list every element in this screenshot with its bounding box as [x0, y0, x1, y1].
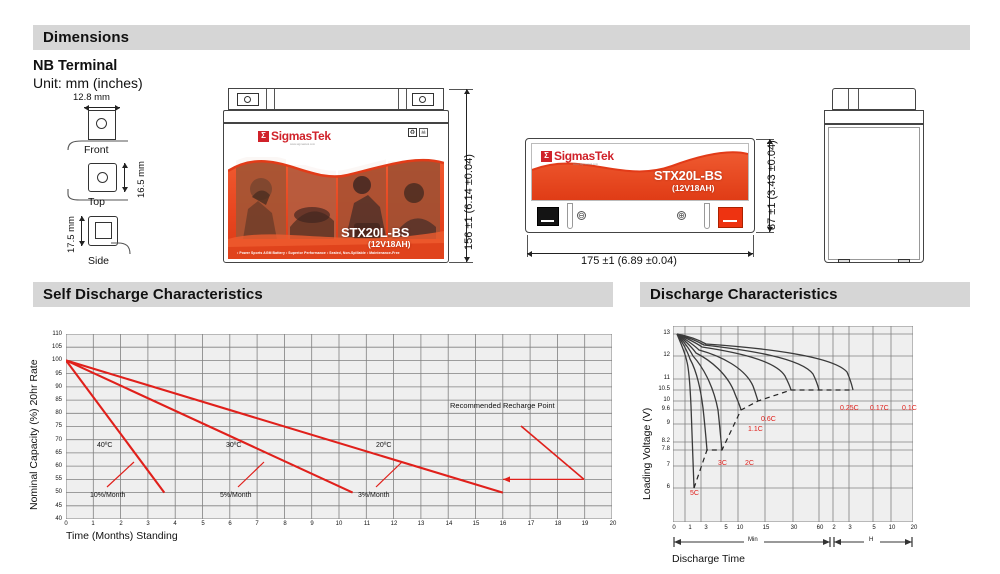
discharge-scale-brackets — [670, 535, 920, 551]
self-discharge-plot — [66, 334, 612, 519]
dc-xtick-5: 5 — [721, 525, 731, 531]
dc-ytick-7-8: 7.8 — [648, 446, 670, 452]
sd-ytick-95: 95 — [44, 371, 62, 377]
battery-front-website: www.sigmastek.com — [290, 143, 315, 146]
annotation-recommended-recharge-point: Recommended Recharge Point — [450, 401, 555, 410]
sd-xtick-10: 10 — [331, 521, 347, 527]
dc-ytick-13-0: 13 — [648, 330, 670, 336]
annotation-10pct-month: 10%/Month — [90, 492, 125, 499]
discharge-x-axis-title: Discharge Time — [672, 553, 745, 565]
unit-note: Unit: mm (inches) — [33, 75, 143, 91]
section-title-self-discharge: Self Discharge Characteristics — [33, 286, 263, 303]
dc-ytick-8-2: 8.2 — [648, 438, 670, 444]
annotation-20c: 20ºC — [376, 442, 391, 449]
battery-length-label: 175 ±1 (6.89 ±0.04) — [581, 255, 677, 267]
battery-front-vent-divider-1 — [266, 89, 267, 109]
battery-front-rating: (12V18AH) — [368, 239, 411, 249]
battery-top-rating: (12V18AH) — [672, 183, 715, 193]
dc-ytick-6-0: 6 — [648, 484, 670, 490]
dc-xtick-3h: 3 — [845, 525, 855, 531]
dc-xtick-0: 0 — [669, 525, 679, 531]
polarity-positive-symbol: ⊕ — [677, 211, 686, 220]
sd-xtick-13: 13 — [413, 521, 429, 527]
annotation-40c: 40ºC — [97, 442, 112, 449]
dc-xtick-60: 60 — [814, 525, 826, 531]
battery-side-top-cap — [832, 88, 916, 110]
sd-xtick-16: 16 — [495, 521, 511, 527]
dc-ytick-9-0: 9 — [648, 420, 670, 426]
battery-front-vent-divider-4 — [406, 89, 407, 109]
self-discharge-svg — [66, 334, 612, 519]
dc-ytick-10-5: 10.5 — [648, 386, 670, 392]
sd-xtick-6: 6 — [222, 521, 238, 527]
battery-front-terminal-left-hole — [244, 96, 251, 103]
dc-xtick-1: 1 — [685, 525, 695, 531]
polarity-negative-symbol: ⊖ — [577, 211, 586, 220]
terminal-depth-label: 16.5 mm — [136, 161, 147, 198]
discharge-label-5c: 5C — [690, 490, 699, 497]
dc-ytick-9-6: 9.6 — [648, 406, 670, 412]
discharge-scale-min-label: Min — [748, 537, 758, 543]
sd-ytick-90: 90 — [44, 384, 62, 390]
sd-xtick-15: 15 — [468, 521, 484, 527]
dc-ytick-12-0: 12 — [648, 352, 670, 358]
dc-ytick-10-0: 10 — [648, 397, 670, 403]
sigmastek-mark-top: Σ — [541, 151, 552, 162]
dc-xtick-3: 3 — [701, 525, 711, 531]
sd-xtick-17: 17 — [523, 521, 539, 527]
battery-vent-slot-right — [704, 203, 710, 229]
battery-height-ext-bottom — [449, 262, 473, 263]
discharge-plot — [673, 326, 913, 522]
battery-front-model: STX20L-BS — [341, 225, 409, 240]
sd-xtick-5: 5 — [195, 521, 211, 527]
discharge-label-1-1c: 1.1C — [748, 426, 763, 433]
section-header-dimensions: Dimensions — [33, 25, 970, 50]
terminal-height-arrow — [81, 216, 82, 246]
battery-negative-terminal-mark — [541, 220, 554, 222]
battery-depth-label: 87 ±1 (3.43 ±0.04) — [766, 140, 778, 230]
sd-xtick-3: 3 — [140, 521, 156, 527]
battery-front-label — [228, 127, 444, 259]
terminal-height-label: 17.5 mm — [66, 216, 77, 253]
sigmastek-wordmark: SigmasTek — [271, 130, 331, 142]
datasheet-page: Dimensions NB Terminal Unit: mm (inches)… — [0, 0, 1000, 574]
section-title-discharge: Discharge Characteristics — [640, 286, 838, 303]
sd-xtick-7: 7 — [249, 521, 265, 527]
battery-front-lid — [223, 110, 449, 123]
nb-terminal-heading: NB Terminal — [33, 58, 117, 74]
discharge-scale-hour-label: H — [869, 537, 873, 543]
discharge-label-0-25c: 0.25C — [840, 405, 859, 412]
battery-length-ext-right — [753, 235, 754, 257]
terminal-side-square — [95, 222, 112, 239]
view-label-top: Top — [88, 196, 105, 208]
battery-front-terminal-right-hole — [419, 96, 426, 103]
recycle-icon: ♻ — [408, 128, 417, 137]
sd-xtick-2: 2 — [113, 521, 129, 527]
sd-xtick-20: 20 — [605, 521, 621, 527]
sd-ytick-60: 60 — [44, 463, 62, 469]
battery-vent-slot-left — [567, 203, 573, 229]
dc-xtick-15: 15 — [760, 525, 772, 531]
battery-front-eco-icons: ♻ ☠ — [408, 128, 428, 137]
battery-height-label: 156 ±1 (6.14 ±0.04) — [463, 154, 475, 250]
battery-depth-ext-bottom — [756, 232, 774, 233]
dc-xtick-10: 10 — [734, 525, 746, 531]
sd-ytick-80: 80 — [44, 410, 62, 416]
sd-ytick-65: 65 — [44, 450, 62, 456]
sd-xtick-8: 8 — [277, 521, 293, 527]
section-header-self-discharge: Self Discharge Characteristics — [33, 282, 613, 307]
terminal-front-hole — [96, 118, 107, 129]
terminal-width-arrow — [84, 107, 120, 108]
discharge-label-0-17c: 0.17C — [870, 405, 889, 412]
battery-positive-terminal-mark — [723, 220, 737, 222]
sd-ytick-105: 105 — [44, 344, 62, 350]
battery-front-vent-divider-2 — [274, 89, 275, 109]
sd-xtick-14: 14 — [441, 521, 457, 527]
battery-side-inner — [828, 127, 920, 260]
battery-front-vent-divider-3 — [398, 89, 399, 109]
annotation-3pct-month: 3%/Month — [358, 492, 390, 499]
terminal-side-base — [110, 240, 136, 256]
sd-ytick-50: 50 — [44, 489, 62, 495]
sd-ytick-75: 75 — [44, 423, 62, 429]
sd-xtick-19: 19 — [577, 521, 593, 527]
sd-xtick-1: 1 — [85, 521, 101, 527]
sd-ytick-100: 100 — [44, 357, 62, 363]
sigmastek-mark: Σ — [258, 131, 269, 142]
sd-xtick-12: 12 — [386, 521, 402, 527]
sd-xtick-4: 4 — [167, 521, 183, 527]
battery-negative-terminal — [537, 207, 559, 226]
terminal-width-label: 12.8 mm — [73, 92, 110, 103]
weee-icon: ☠ — [419, 128, 428, 137]
sd-ytick-110: 110 — [44, 331, 62, 337]
sd-xtick-9: 9 — [304, 521, 320, 527]
battery-side-foot-left — [838, 259, 850, 263]
sd-xtick-0: 0 — [58, 521, 74, 527]
sd-xtick-18: 18 — [550, 521, 566, 527]
annotation-30c: 30ºC — [226, 442, 241, 449]
sd-ytick-45: 45 — [44, 503, 62, 509]
battery-side-vent-2 — [858, 89, 859, 109]
dc-ytick-7-0: 7 — [648, 462, 670, 468]
dc-xtick-2h: 2 — [829, 525, 839, 531]
battery-top-website: www.sigmastek.com — [573, 163, 598, 166]
terminal-top-hole — [97, 172, 108, 183]
view-label-front: Front — [84, 144, 109, 156]
battery-top-logo: Σ SigmasTek — [541, 150, 614, 162]
discharge-label-2c: 2C — [745, 460, 754, 467]
sd-ytick-55: 55 — [44, 476, 62, 482]
dc-xtick-20h: 20 — [908, 525, 920, 531]
battery-front-logo: Σ SigmasTek — [258, 130, 331, 142]
sd-ytick-85: 85 — [44, 397, 62, 403]
battery-top-model: STX20L-BS — [654, 168, 722, 183]
section-header-discharge: Discharge Characteristics — [640, 282, 970, 307]
section-title-dimensions: Dimensions — [33, 29, 129, 46]
sd-xtick-11: 11 — [359, 521, 375, 527]
dc-xtick-30: 30 — [788, 525, 800, 531]
dc-ytick-11-0: 11 — [648, 375, 670, 381]
dc-xtick-5h: 5 — [869, 525, 879, 531]
discharge-label-3c: 3C — [718, 460, 727, 467]
self-discharge-y-axis-title: Nominal Capacity (%) 20hr Rate — [28, 359, 40, 510]
self-discharge-x-axis-title: Time (Months) Standing — [66, 530, 178, 542]
battery-side-foot-right — [898, 259, 910, 263]
battery-front-label-art — [228, 127, 444, 259]
battery-side-vent-1 — [848, 89, 849, 109]
battery-positive-terminal — [718, 207, 743, 228]
view-label-side: Side — [88, 255, 109, 267]
annotation-5pct-month: 5%/Month — [220, 492, 252, 499]
discharge-svg — [673, 326, 913, 522]
discharge-label-0-6c: 0.6C — [761, 416, 776, 423]
battery-side-lid — [824, 110, 924, 124]
dc-xtick-10h: 10 — [886, 525, 898, 531]
battery-front-tagline: • Power Sports AGM Battery • Superior Pe… — [237, 251, 400, 255]
battery-length-arrow — [527, 253, 753, 254]
discharge-label-0-1c: 0.1C — [902, 405, 917, 412]
sigmastek-wordmark-top: SigmasTek — [554, 150, 614, 162]
sd-ytick-70: 70 — [44, 437, 62, 443]
terminal-depth-arrow — [124, 163, 125, 192]
